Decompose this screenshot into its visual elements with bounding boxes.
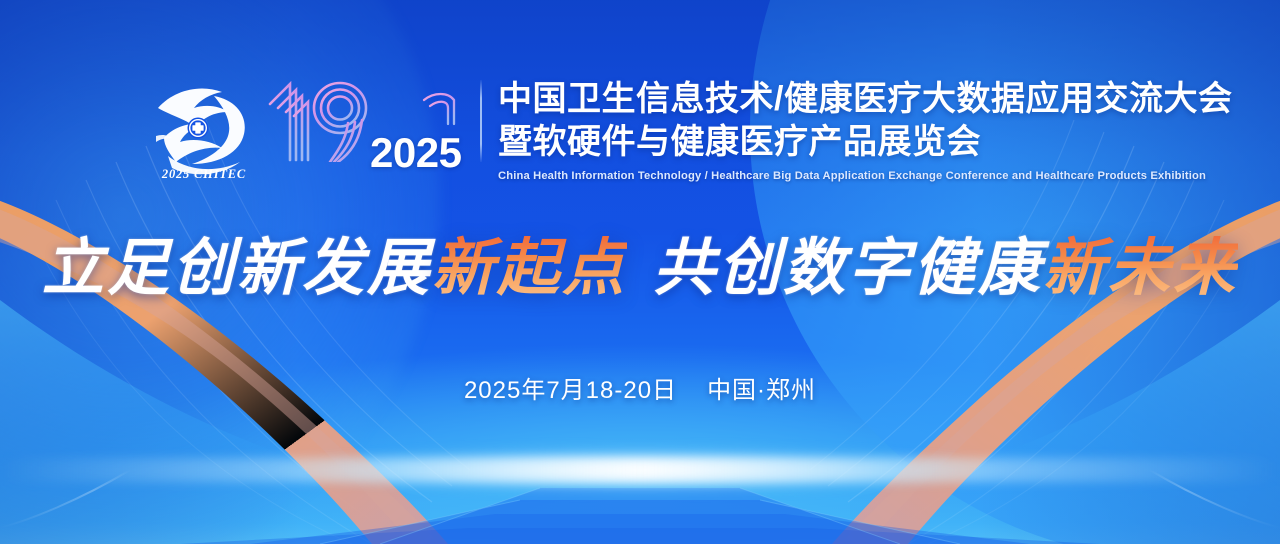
slogan: 立足创新发展新起点共创数字健康新未来 — [0, 238, 1280, 300]
title-line-1: 中国卫生信息技术/健康医疗大数据应用交流大会 — [498, 78, 1232, 121]
title-line-2: 暨软硬件与健康医疗产品展览会 — [498, 121, 1232, 164]
banner-header: 2025 CHITEC — [148, 76, 1232, 184]
event-date: 2025年7月18-20日 — [464, 377, 677, 404]
slogan-part1-orange: 新起点 — [432, 235, 627, 303]
slogan-part1-white: 立足创新发展 — [42, 235, 432, 303]
conference-banner: 2025 CHITEC — [0, 0, 1280, 544]
logo-wordmark: 2025 CHITEC — [148, 167, 260, 182]
header-divider — [480, 80, 482, 162]
date-location-bar: 2025年7月18-20日中国·郑州 — [0, 370, 1280, 405]
event-location: 中国·郑州 — [707, 377, 816, 404]
slogan-part2-white: 共创数字健康 — [653, 235, 1043, 303]
edition-year: 2025 — [370, 132, 461, 174]
chitec-logo: 2025 CHITEC — [148, 76, 260, 184]
title-english-subtitle: China Health Information Technology / He… — [498, 170, 1232, 182]
slogan-part2-orange: 新未来 — [1043, 235, 1238, 303]
edition-mark: 2025 — [264, 76, 476, 180]
title-block: 中国卫生信息技术/健康医疗大数据应用交流大会 暨软硬件与健康医疗产品展览会 Ch… — [498, 76, 1232, 182]
